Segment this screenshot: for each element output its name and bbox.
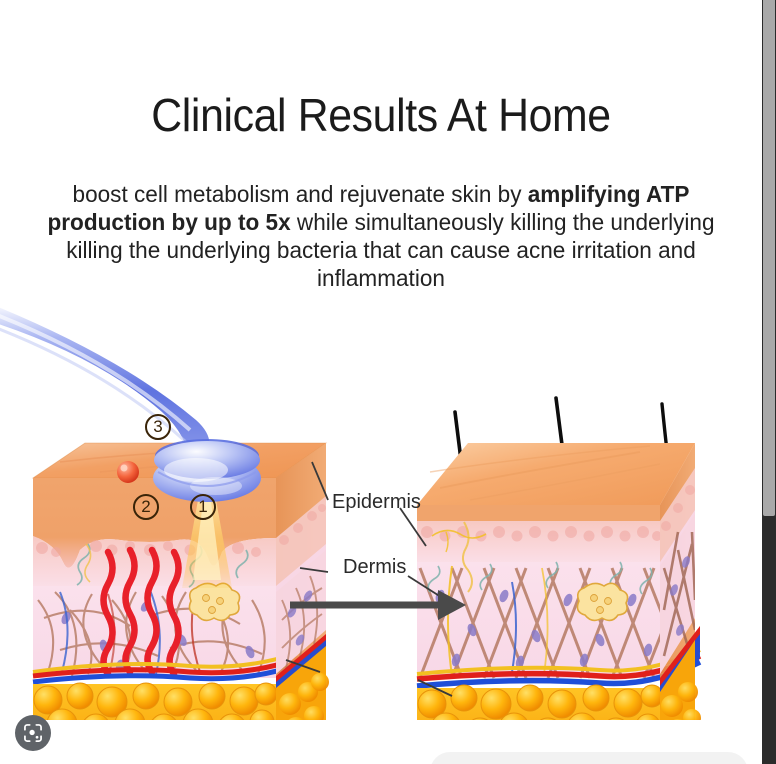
vertical-scrollbar-thumb[interactable] (763, 0, 775, 516)
page-title: Clinical Results At Home (27, 88, 736, 142)
step-badge-2: 2 (133, 494, 159, 520)
body-paragraph: boost cell metabolism and rejuvenate ski… (42, 180, 720, 292)
step-badge-3: 3 (145, 414, 171, 440)
vertical-scrollbar-track[interactable] (762, 0, 776, 764)
lens-camera-icon-button[interactable] (15, 715, 51, 751)
page-content: Clinical Results At Home boost cell meta… (0, 0, 762, 764)
inflamed-lesion (117, 461, 139, 483)
screenshot-viewport: Clinical Results At Home boost cell meta… (0, 0, 776, 764)
right-skin-block (413, 398, 701, 720)
label-epidermis: Epidermis (332, 491, 421, 514)
bottom-toolbar[interactable]: ☷ + (430, 752, 748, 764)
lens-camera-icon (22, 722, 44, 744)
label-dermis: Dermis (343, 556, 406, 579)
step-badge-1: 1 (190, 494, 216, 520)
